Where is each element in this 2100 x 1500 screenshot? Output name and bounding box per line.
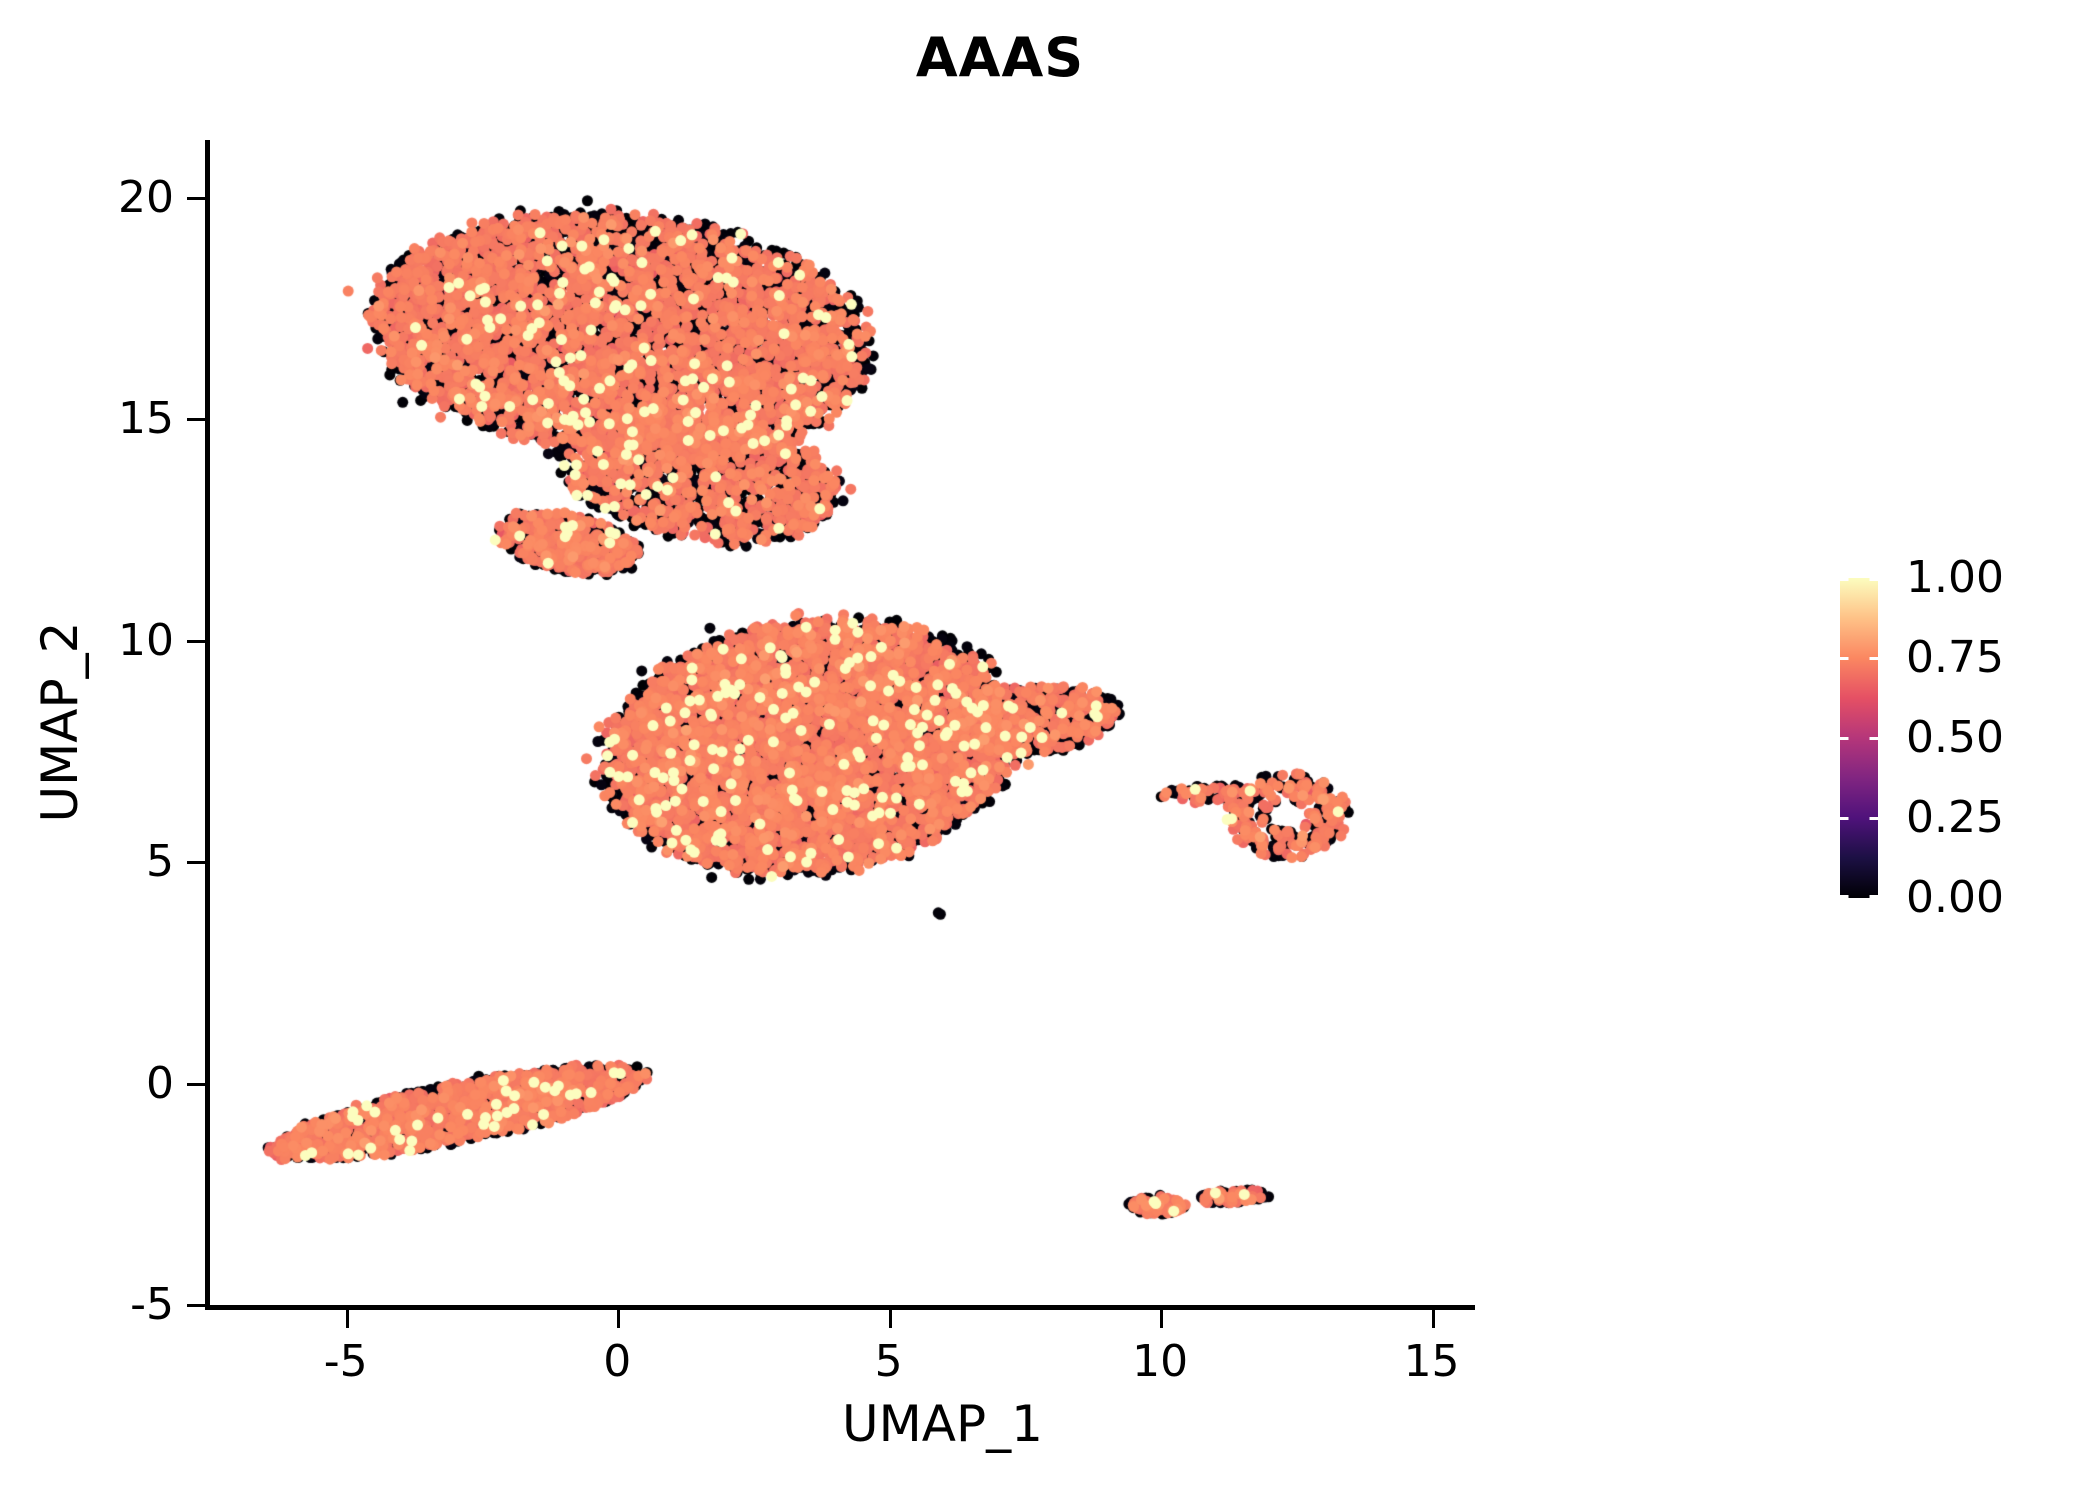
y-tick-label: 0	[146, 1058, 174, 1110]
x-axis-spine	[205, 1305, 1475, 1310]
colorbar-tick	[1840, 817, 1878, 820]
y-tick	[187, 197, 205, 200]
colorbar-tick-label: 1.00	[1906, 553, 2004, 603]
y-tick-label: -5	[130, 1279, 174, 1331]
y-tick	[187, 1304, 205, 1307]
x-tick-label: 10	[1132, 1336, 1188, 1388]
x-tick	[617, 1310, 620, 1328]
x-tick	[1160, 1310, 1163, 1328]
scatter-canvas	[210, 140, 1475, 1305]
x-tick-label: 0	[603, 1336, 631, 1388]
x-tick-label: -5	[324, 1336, 368, 1388]
colorbar-tick	[1840, 578, 1878, 581]
y-tick-label: 20	[118, 172, 174, 224]
colorbar-tick	[1840, 657, 1878, 660]
plot-axes: -5051015 20151050-5 UMAP_1 UMAP_2	[210, 140, 1475, 1305]
y-tick	[187, 640, 205, 643]
y-axis-spine	[205, 140, 210, 1310]
x-tick	[889, 1310, 892, 1328]
x-tick-label: 5	[875, 1336, 903, 1388]
colorbar-tick	[1840, 895, 1878, 898]
colorbar-tick-label: 0.25	[1906, 793, 2004, 843]
y-tick	[187, 861, 205, 864]
y-tick-label: 10	[118, 615, 174, 667]
y-tick	[187, 418, 205, 421]
y-tick	[187, 1083, 205, 1086]
x-tick	[1432, 1310, 1435, 1328]
page-title: AAAS	[0, 26, 2000, 89]
x-tick-label: 15	[1404, 1336, 1460, 1388]
colorbar-legend: 1.000.750.500.250.00	[1840, 578, 2070, 904]
colorbar-tick-label: 0.00	[1906, 873, 2004, 923]
umap-figure: AAAS -5051015 20151050-5 UMAP_1 UMAP_2 1…	[0, 0, 2100, 1500]
colorbar-tick-label: 0.50	[1906, 713, 2004, 763]
colorbar-tick	[1840, 737, 1878, 740]
y-tick-label: 15	[118, 393, 174, 445]
x-tick	[346, 1310, 349, 1328]
y-tick-label: 5	[146, 836, 174, 888]
y-axis-label: UMAP_2	[31, 622, 89, 823]
colorbar-tick-label: 0.75	[1906, 633, 2004, 683]
